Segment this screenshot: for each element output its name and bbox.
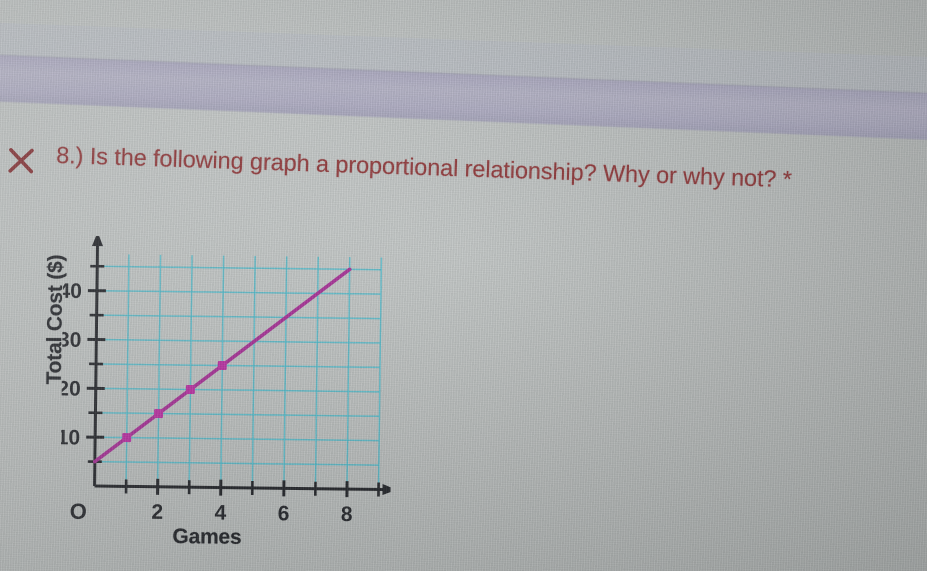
chart-gridlines bbox=[95, 254, 381, 489]
chart-plot-area: 246810203040 O bbox=[60, 236, 394, 530]
svg-text:4: 4 bbox=[214, 502, 226, 525]
svg-text:2: 2 bbox=[151, 501, 163, 524]
svg-text:30: 30 bbox=[60, 329, 81, 352]
svg-text:20: 20 bbox=[60, 377, 81, 400]
form-banner bbox=[0, 20, 927, 150]
svg-text:6: 6 bbox=[278, 502, 290, 525]
chart-figure: Total Cost ($) Games 246810203040 O bbox=[16, 235, 390, 569]
chart-origin-label: O bbox=[70, 499, 87, 524]
svg-text:8: 8 bbox=[341, 503, 353, 526]
svg-text:40: 40 bbox=[60, 280, 82, 303]
svg-text:O: O bbox=[70, 499, 87, 524]
svg-text:10: 10 bbox=[60, 426, 80, 449]
screenshot-root: 8.) Is the following graph a proportiona… bbox=[0, 0, 927, 571]
x-mark-icon bbox=[6, 145, 37, 176]
